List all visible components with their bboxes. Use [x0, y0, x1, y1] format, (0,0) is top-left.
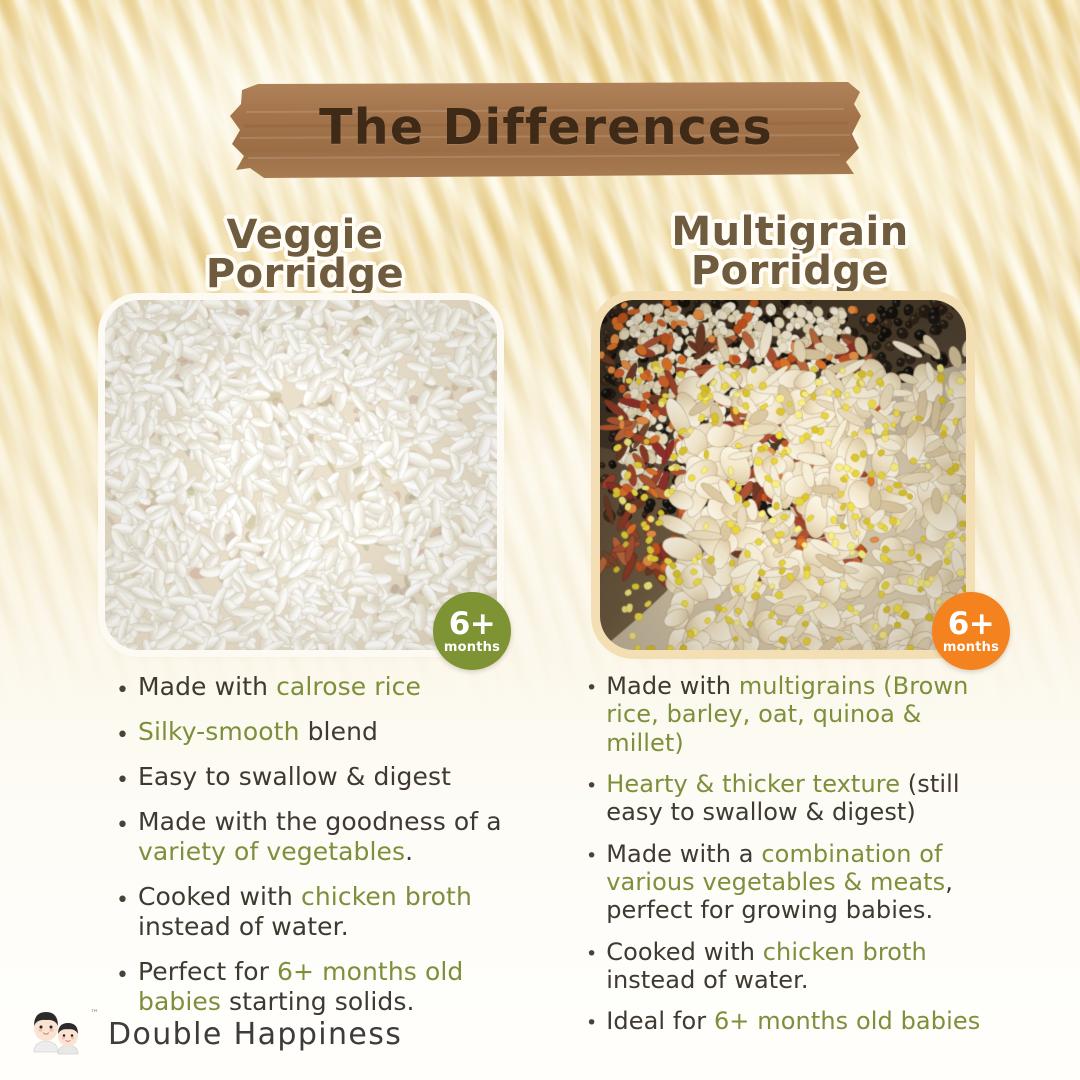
bullet-dot-icon: •	[116, 965, 129, 987]
feature-bullet-text: Made with calrose rice	[138, 672, 516, 702]
feature-bullet-text: Easy to swallow & digest	[138, 762, 516, 792]
bullet-dot-icon: •	[116, 725, 129, 747]
column-heading-veggie: Veggie Porridge	[140, 216, 470, 294]
bullet-dot-icon: •	[116, 680, 129, 702]
badge-age-unit: months	[444, 641, 500, 654]
feature-bullet-item: •Cooked with chicken broth instead of wa…	[586, 938, 998, 995]
children-illustration	[28, 1006, 92, 1062]
bullet-dot-icon: •	[116, 815, 129, 837]
title-banner: The Differences	[228, 82, 864, 178]
feature-list-veggie: •Made with calrose rice•Silky-smooth ble…	[116, 672, 516, 1032]
multigrain-image	[600, 300, 966, 650]
highlight-text: Silky-smooth	[138, 717, 300, 746]
feature-bullet-text: Cooked with chicken broth instead of wat…	[606, 938, 998, 995]
age-badge-veggie: 6+ months	[433, 592, 511, 670]
trademark-symbol: ™	[90, 1009, 99, 1019]
two-children-icon: ™	[28, 1006, 92, 1062]
feature-bullet-text: Made with multigrains (Brown rice, barle…	[606, 672, 998, 757]
feature-bullet-item: •Ideal for 6+ months old babies	[586, 1007, 998, 1035]
banner-title-text: The Differences	[228, 82, 864, 178]
feature-list-multigrain: •Made with multigrains (Brown rice, barl…	[586, 672, 998, 1048]
feature-bullet-text: Silky-smooth blend	[138, 717, 516, 747]
badge-age-number: 6+	[449, 609, 496, 640]
feature-bullet-item: •Made with a combination of various vege…	[586, 840, 998, 925]
product-photo-multigrain	[600, 300, 966, 650]
highlight-text: calrose rice	[276, 672, 421, 701]
highlight-text: chicken broth	[763, 938, 927, 966]
heading-line-2: Porridge	[140, 255, 470, 294]
bullet-dot-icon: •	[586, 945, 597, 964]
brand-logo: ™ Double Happiness	[28, 1006, 402, 1062]
heading-line-2: Porridge	[620, 252, 960, 291]
column-heading-multigrain: Multigrain Porridge	[620, 213, 960, 291]
plain-text: Cooked with	[138, 882, 301, 911]
plain-text: Cooked with	[606, 938, 763, 966]
plain-text: Made with a	[606, 840, 761, 868]
feature-bullet-item: •Easy to swallow & digest	[116, 762, 516, 792]
feature-bullet-item: •Cooked with chicken broth instead of wa…	[116, 882, 516, 942]
plain-text: Made with	[138, 672, 276, 701]
plain-text: Easy to swallow & digest	[138, 762, 451, 791]
highlight-text: 6+ months old babies	[714, 1007, 980, 1035]
badge-age-number: 6+	[948, 609, 995, 640]
brand-name: Double Happiness	[108, 1017, 402, 1052]
badge-age-unit: months	[943, 641, 999, 654]
feature-bullet-item: •Silky-smooth blend	[116, 717, 516, 747]
bullet-dot-icon: •	[116, 770, 129, 792]
plain-text: blend	[300, 717, 378, 746]
age-badge-multigrain: 6+ months	[932, 592, 1010, 670]
feature-bullet-text: Made with the goodness of a variety of v…	[138, 807, 516, 867]
bullet-dot-icon: •	[586, 847, 597, 866]
plain-text: instead of water.	[138, 912, 349, 941]
bullet-dot-icon: •	[116, 890, 129, 912]
plain-text: Made with the goodness of a	[138, 807, 502, 836]
plain-text: Ideal for	[606, 1007, 714, 1035]
plain-text: Made with	[606, 672, 739, 700]
white-rice-image	[105, 300, 497, 650]
bullet-dot-icon: •	[586, 1014, 597, 1033]
plain-text: Perfect for	[138, 957, 277, 986]
feature-bullet-text: Cooked with chicken broth instead of wat…	[138, 882, 516, 942]
feature-bullet-item: •Made with calrose rice	[116, 672, 516, 702]
bullet-dot-icon: •	[586, 679, 597, 698]
bullet-dot-icon: •	[586, 777, 597, 796]
product-photo-veggie-rice	[105, 300, 497, 650]
highlight-text: Hearty & thicker texture	[606, 770, 900, 798]
feature-bullet-item: •Made with the goodness of a variety of …	[116, 807, 516, 867]
feature-bullet-text: Hearty & thicker texture (still easy to …	[606, 770, 998, 827]
plain-text: .	[405, 837, 413, 866]
plain-text: instead of water.	[606, 966, 808, 994]
feature-bullet-item: •Made with multigrains (Brown rice, barl…	[586, 672, 998, 757]
feature-bullet-text: Ideal for 6+ months old babies	[606, 1007, 998, 1035]
highlight-text: variety of vegetables	[138, 837, 405, 866]
feature-bullet-text: Made with a combination of various veget…	[606, 840, 998, 925]
infographic-poster: The Differences Veggie Porridge Multigra…	[0, 0, 1080, 1080]
feature-bullet-item: •Hearty & thicker texture (still easy to…	[586, 770, 998, 827]
highlight-text: chicken broth	[301, 882, 472, 911]
